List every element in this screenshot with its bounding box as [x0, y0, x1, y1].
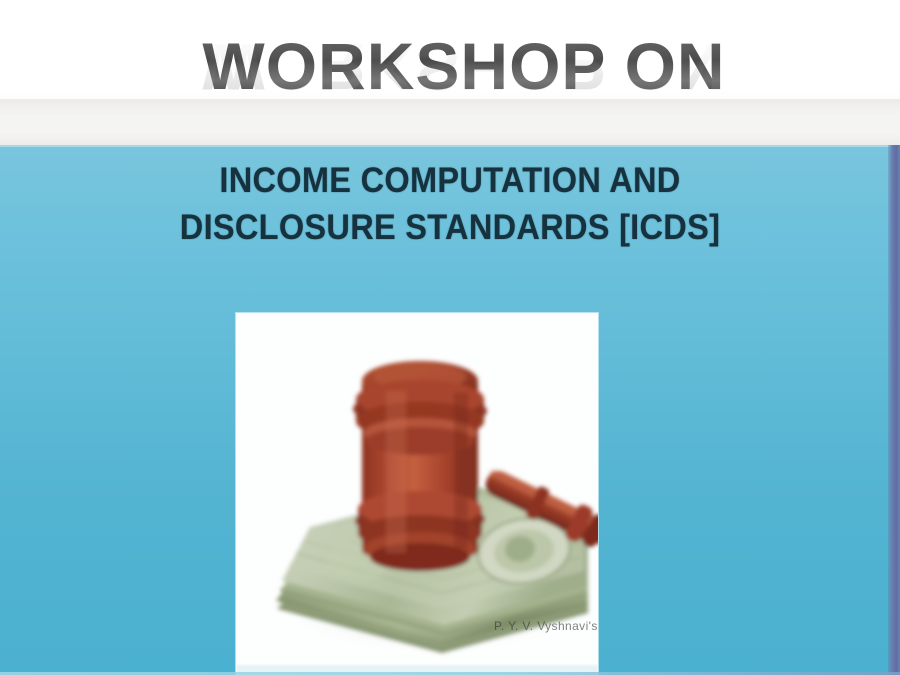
gavel-on-money-image: P. Y. V. Vyshnavi's — [236, 313, 598, 675]
page-title: WORKSHOP ON — [0, 33, 900, 99]
subtitle-line-2: DISCLOSURE STANDARDS [ICDS] — [32, 204, 869, 251]
gavel-illustration — [236, 313, 598, 675]
right-edge-strip — [888, 145, 900, 675]
title-band: WORKSHOP ON WORKSHOP ON — [0, 0, 900, 145]
slide-body: INCOME COMPUTATION AND DISCLOSURE STANDA… — [0, 145, 900, 675]
slide-subtitle: INCOME COMPUTATION AND DISCLOSURE STANDA… — [0, 157, 900, 251]
body-top-hairline — [0, 145, 900, 147]
title-floor-gradient — [0, 99, 900, 145]
presentation-slide: WORKSHOP ON WORKSHOP ON INCOME COMPUTATI… — [0, 0, 900, 675]
subtitle-line-1: INCOME COMPUTATION AND — [32, 157, 869, 204]
